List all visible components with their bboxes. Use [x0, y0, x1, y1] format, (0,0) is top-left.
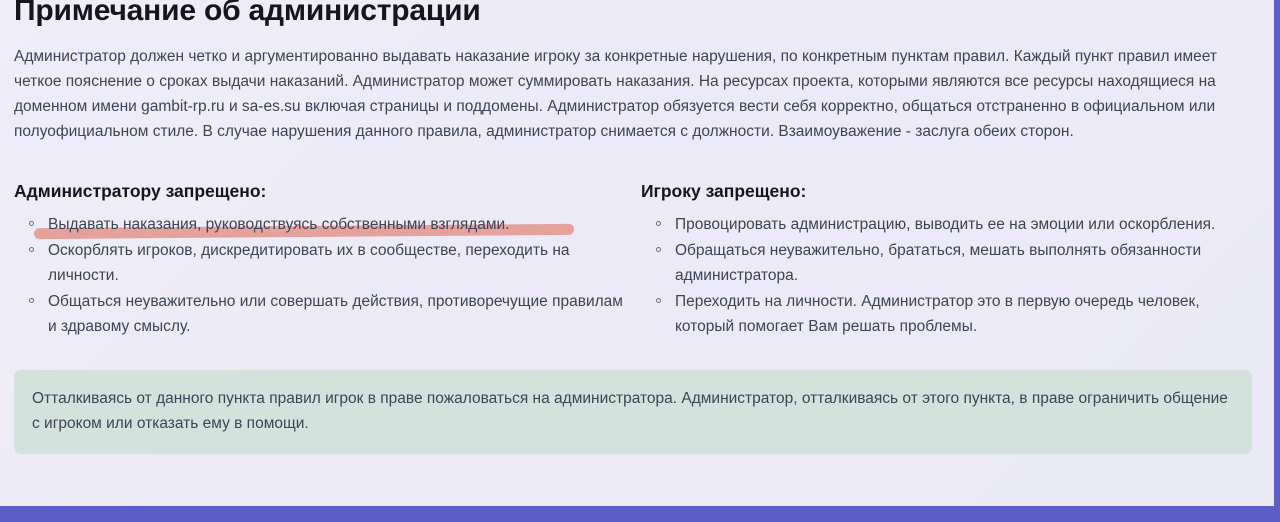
page-content: Примечание об администрации Администрато… [0, 0, 1274, 454]
info-callout: Отталкиваясь от данного пункта правил иг… [14, 370, 1252, 454]
player-rules-list: Провоцировать администрацию, выводить ее… [641, 212, 1246, 339]
list-item-text: Выдавать наказания, руководствуясь собст… [48, 216, 510, 233]
list-item-text: Переходить на личности. Администратор эт… [675, 293, 1200, 335]
list-item: Провоцировать администрацию, выводить ее… [675, 212, 1246, 237]
list-item: Выдавать наказания, руководствуясь собст… [48, 212, 625, 237]
admin-rules-list: Выдавать наказания, руководствуясь собст… [14, 212, 625, 339]
rules-columns: Администратору запрещено: Выдавать наказ… [14, 180, 1246, 340]
list-item-text: Общаться неуважительно или совершать дей… [48, 293, 623, 335]
list-item-text: Обращаться неуважительно, братaться, меш… [675, 242, 1201, 284]
list-item: Обращаться неуважительно, братaться, меш… [675, 238, 1246, 288]
page-title: Примечание об администрации [14, 0, 1246, 28]
admin-rules-heading: Администратору запрещено: [14, 180, 625, 202]
page-frame: Примечание об администрации Администрато… [0, 0, 1280, 522]
intro-paragraph: Администратор должен четко и аргументиро… [14, 34, 1246, 144]
player-rules-column: Игроку запрещено: Провоцировать админист… [641, 180, 1246, 340]
list-item: Переходить на личности. Администратор эт… [675, 289, 1246, 339]
list-item: Общаться неуважительно или совершать дей… [48, 289, 625, 339]
list-item-text: Провоцировать администрацию, выводить ее… [675, 216, 1215, 233]
list-item-text: Оскорблять игроков, дискредитировать их … [48, 242, 570, 284]
player-rules-heading: Игроку запрещено: [641, 180, 1246, 202]
admin-rules-column: Администратору запрещено: Выдавать наказ… [14, 180, 641, 340]
list-item: Оскорблять игроков, дискредитировать их … [48, 238, 625, 288]
